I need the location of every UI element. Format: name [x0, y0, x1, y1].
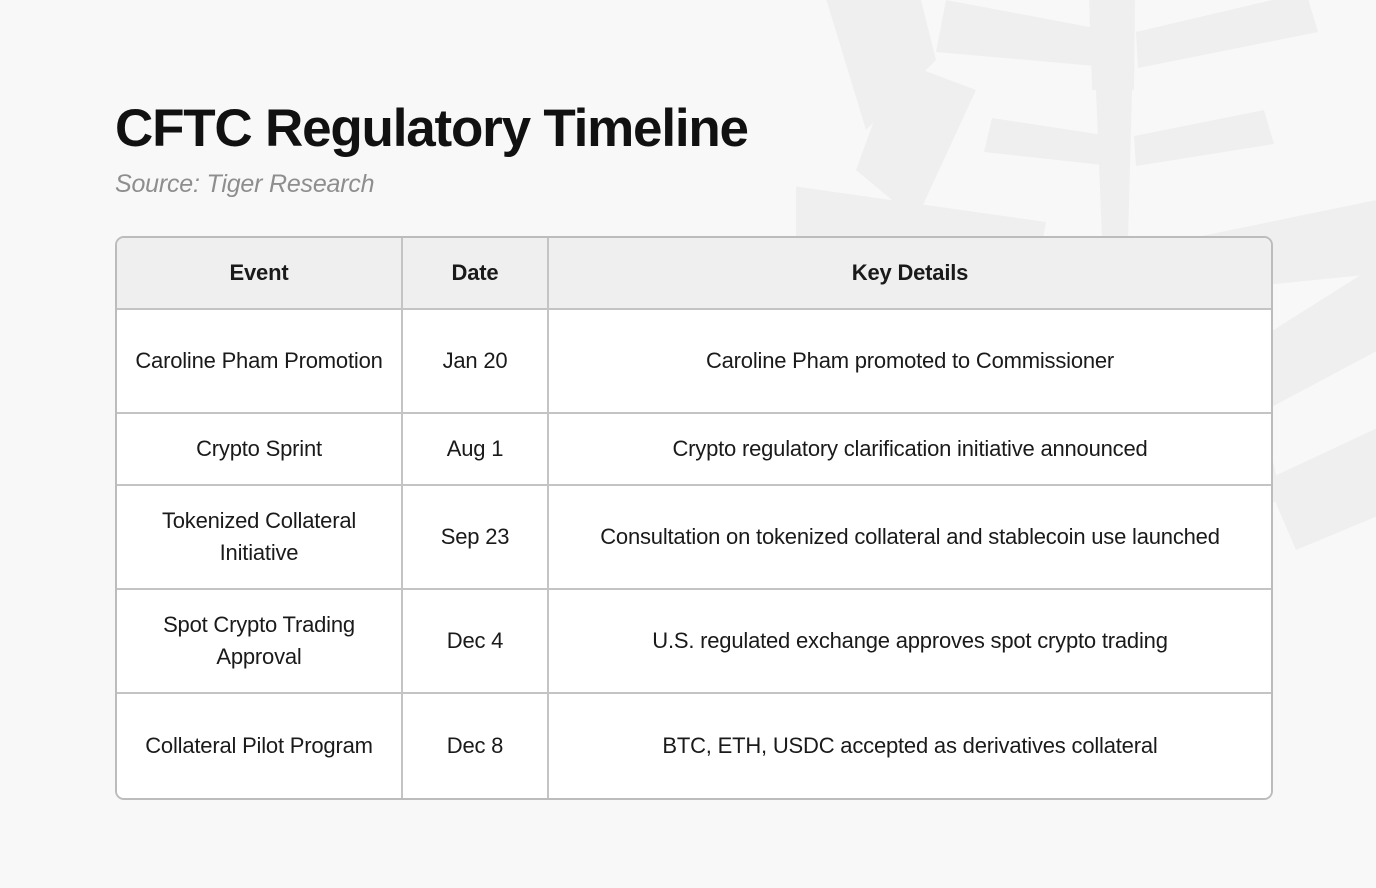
table-row: Crypto Sprint Aug 1 Crypto regulatory cl…	[117, 414, 1271, 486]
infographic-page: CFTC Regulatory Timeline Source: Tiger R…	[0, 0, 1376, 888]
column-header-date: Date	[403, 238, 549, 310]
cell-event: Caroline Pham Promotion	[117, 310, 403, 414]
table-body: Caroline Pham Promotion Jan 20 Caroline …	[117, 310, 1271, 798]
table-header-row: Event Date Key Details	[117, 238, 1271, 310]
cell-date: Jan 20	[403, 310, 549, 414]
table-header: Event Date Key Details	[117, 238, 1271, 310]
cell-details: Caroline Pham promoted to Commissioner	[549, 310, 1271, 414]
cell-date: Dec 8	[403, 694, 549, 798]
table-row: Tokenized Collateral Initiative Sep 23 C…	[117, 486, 1271, 590]
source-attribution: Source: Tiger Research	[115, 171, 1275, 199]
table-row: Collateral Pilot Program Dec 8 BTC, ETH,…	[117, 694, 1271, 798]
cell-date: Sep 23	[403, 486, 549, 590]
table-row: Spot Crypto Trading Approval Dec 4 U.S. …	[117, 590, 1271, 694]
column-header-event: Event	[117, 238, 403, 310]
cell-event: Crypto Sprint	[117, 414, 403, 486]
timeline-table-container: Event Date Key Details Caroline Pham Pro…	[115, 236, 1269, 800]
cell-date: Dec 4	[403, 590, 549, 694]
cell-date: Aug 1	[403, 414, 549, 486]
table-row: Caroline Pham Promotion Jan 20 Caroline …	[117, 310, 1271, 414]
page-title: CFTC Regulatory Timeline	[115, 100, 1275, 157]
cell-details: Crypto regulatory clarification initiati…	[549, 414, 1271, 486]
cell-details: BTC, ETH, USDC accepted as derivatives c…	[549, 694, 1271, 798]
cell-event: Collateral Pilot Program	[117, 694, 403, 798]
regulatory-timeline-table: Event Date Key Details Caroline Pham Pro…	[115, 236, 1273, 800]
header-block: CFTC Regulatory Timeline Source: Tiger R…	[115, 100, 1275, 199]
cell-details: U.S. regulated exchange approves spot cr…	[549, 590, 1271, 694]
cell-event: Tokenized Collateral Initiative	[117, 486, 403, 590]
cell-details: Consultation on tokenized collateral and…	[549, 486, 1271, 590]
cell-event: Spot Crypto Trading Approval	[117, 590, 403, 694]
column-header-key-details: Key Details	[549, 238, 1271, 310]
